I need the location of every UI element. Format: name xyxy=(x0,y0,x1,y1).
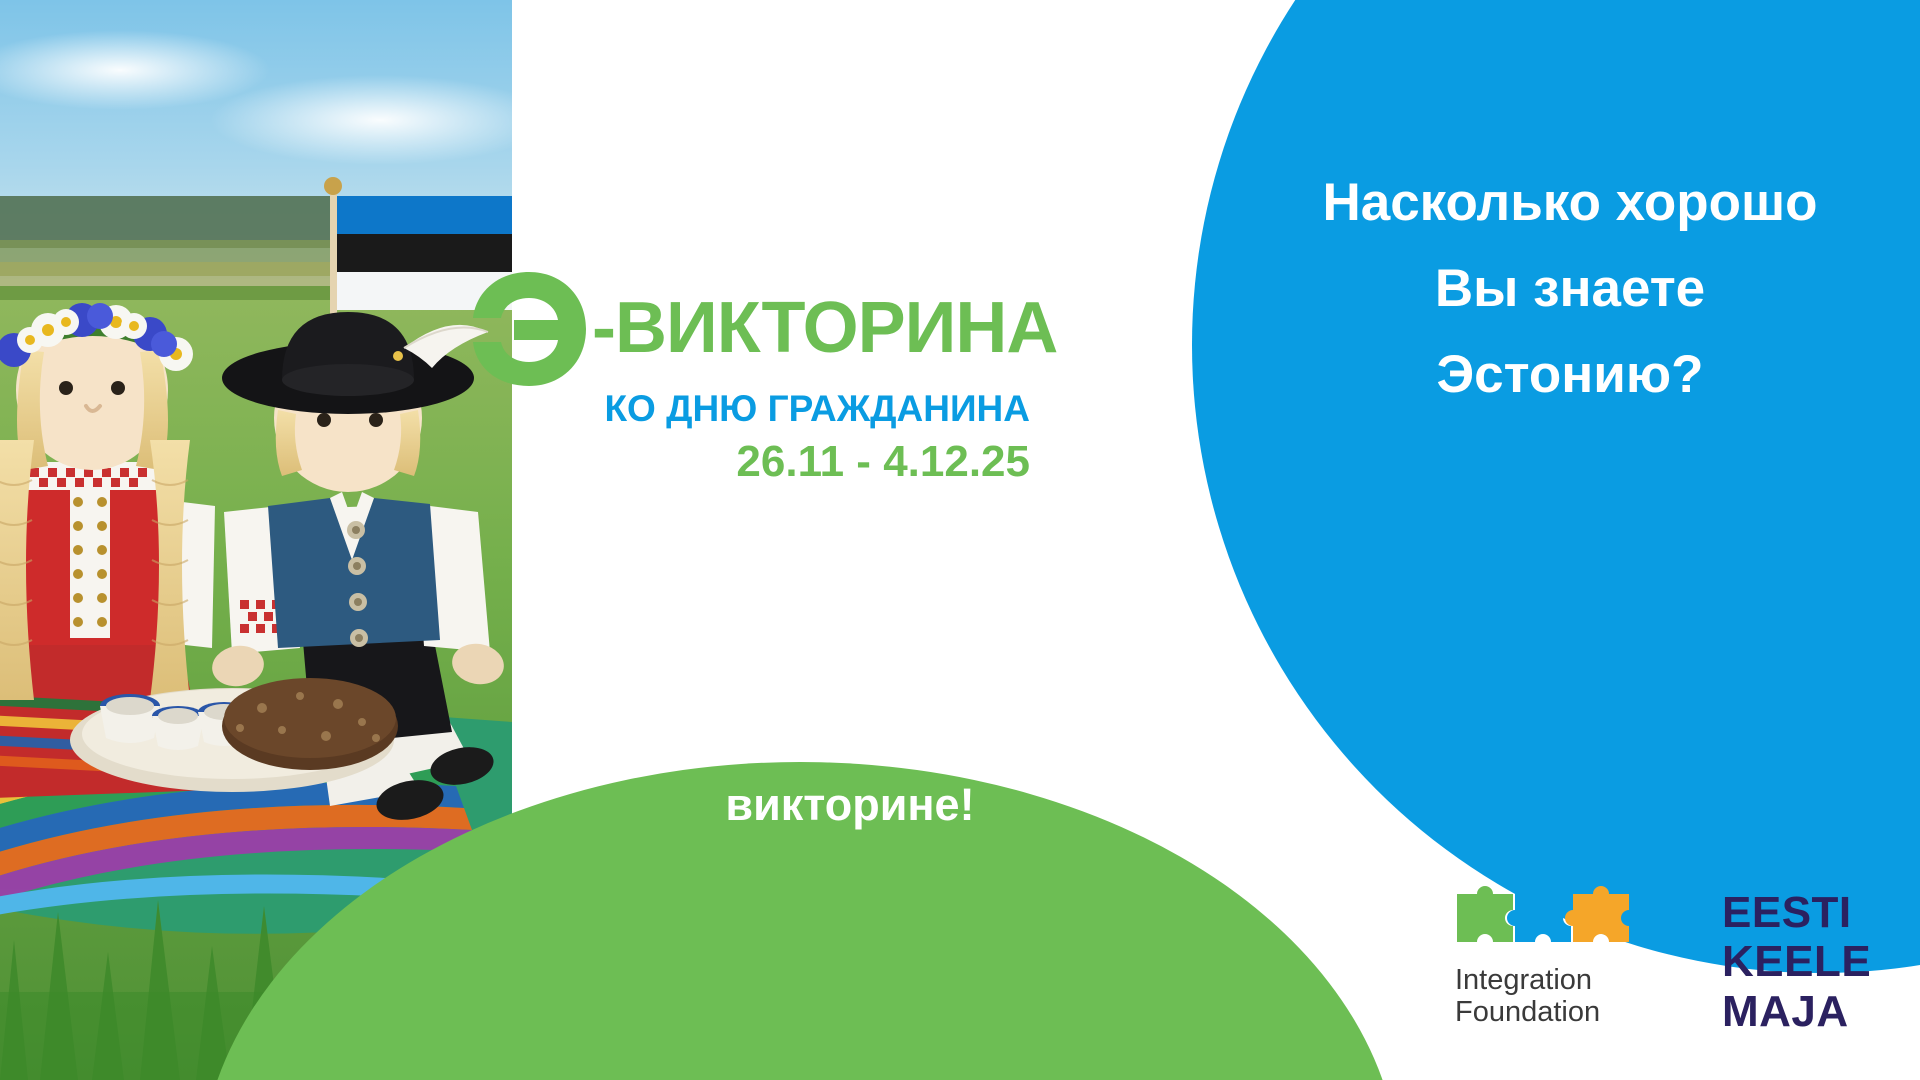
cta-line-1: Примите участие в xyxy=(545,700,1155,770)
brand-title-row: -ВИКТОРИНА xyxy=(470,268,1030,388)
photo-illustration xyxy=(0,0,512,1080)
integration-foundation-name: Integration Foundation xyxy=(1455,964,1665,1029)
if-name-line-2: Foundation xyxy=(1455,996,1665,1028)
question-line-2: Вы знаете xyxy=(1240,246,1900,332)
blue-circle-shape xyxy=(1192,0,1920,973)
if-name-line-1: Integration xyxy=(1455,964,1665,996)
brand-subtitle: КО ДНЮ ГРАЖДАНИНА xyxy=(470,390,1030,429)
cta-line-2: викторине! xyxy=(545,770,1155,840)
hero-photo xyxy=(0,0,512,1080)
ekm-line-1: EESTI xyxy=(1722,888,1902,937)
integration-foundation-logo: Integration Foundation xyxy=(1455,878,1665,1029)
puzzle-pieces-icon xyxy=(1455,878,1641,956)
brand-block: -ВИКТОРИНА КО ДНЮ ГРАЖДАНИНА 26.11 - 4.1… xyxy=(470,268,1030,485)
ekm-line-2: KEELE xyxy=(1722,937,1902,986)
e-letter-logo-icon xyxy=(470,270,588,388)
brand-dates: 26.11 - 4.12.25 xyxy=(470,439,1030,485)
poster-canvas: -ВИКТОРИНА КО ДНЮ ГРАЖДАНИНА 26.11 - 4.1… xyxy=(0,0,1920,1080)
question-line-3: Эстонию? xyxy=(1240,332,1900,418)
question-headline: Насколько хорошо Вы знаете Эстонию? xyxy=(1240,160,1900,418)
eesti-keele-maja-logo: EESTI KEELE MAJA xyxy=(1722,888,1902,1036)
brand-title: -ВИКТОРИНА xyxy=(592,294,1057,362)
cta-text: Примите участие в викторине! xyxy=(545,700,1155,840)
food-tray xyxy=(70,678,398,792)
ekm-line-3: MAJA xyxy=(1722,987,1902,1036)
green-fill-block xyxy=(512,1000,812,1080)
bread-loaf xyxy=(222,678,398,770)
question-line-1: Насколько хорошо xyxy=(1240,160,1900,246)
